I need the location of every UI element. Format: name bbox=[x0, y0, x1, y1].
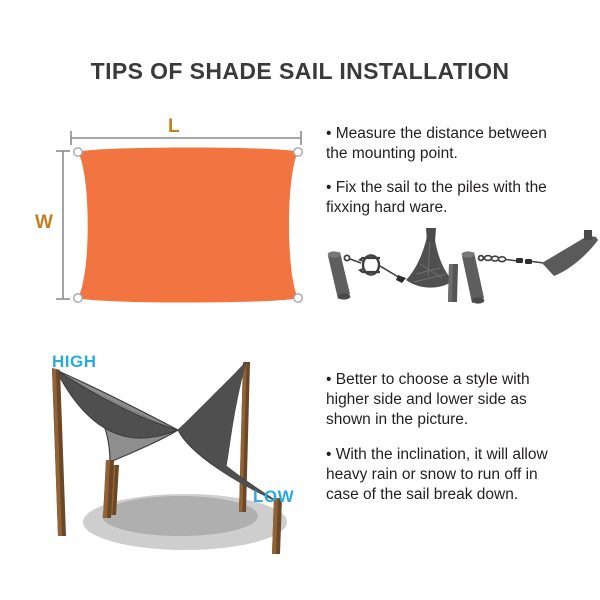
grommet-icon bbox=[294, 148, 302, 156]
tip-line: • With the inclination, it will allow bbox=[326, 445, 548, 465]
tip-line: shown in the picture. bbox=[326, 410, 530, 430]
tip-fix-sail-to-piles: • Fix the sail to the piles with the fix… bbox=[326, 178, 547, 218]
tips-upper-block: • Measure the distance between the mount… bbox=[326, 124, 600, 220]
length-dimension-line bbox=[71, 131, 301, 145]
high-label: HIGH bbox=[52, 352, 97, 372]
width-dimension-line bbox=[56, 151, 70, 299]
length-label: L bbox=[168, 116, 180, 138]
tip-line: • Measure the distance between bbox=[326, 124, 547, 144]
ground-shadow bbox=[102, 496, 258, 536]
tip-inclination-runoff: • With the inclination, it will allow he… bbox=[326, 445, 548, 505]
grommet-icon bbox=[74, 294, 82, 302]
low-label: LOW bbox=[253, 487, 294, 507]
chain-icon bbox=[484, 256, 505, 262]
tip-line: the mounting point. bbox=[326, 144, 547, 164]
infographic-page: TIPS OF SHADE SAIL INSTALLATION L W • Me… bbox=[0, 0, 600, 600]
tip-line: case of the sail break down. bbox=[326, 485, 548, 505]
page-title: TIPS OF SHADE SAIL INSTALLATION bbox=[0, 58, 600, 85]
sail-corner-panel bbox=[542, 236, 598, 276]
post-icon bbox=[462, 251, 485, 303]
tip-line: • Better to choose a style with bbox=[326, 370, 530, 390]
tip-line: heavy rain or snow to run off in bbox=[326, 465, 548, 485]
rectangular-shade-sail-diagram bbox=[18, 108, 318, 320]
tips-lower-block: • Better to choose a style with higher s… bbox=[326, 370, 600, 510]
tip-line: higher side and lower side as bbox=[326, 390, 530, 410]
turnbuckle-icon bbox=[358, 256, 380, 275]
tip-measure-distance: • Measure the distance between the mount… bbox=[326, 124, 547, 164]
orange-sail-body bbox=[78, 148, 298, 303]
hardware-item-chain bbox=[462, 230, 598, 304]
tip-line: • Fix the sail to the piles with the bbox=[326, 178, 547, 198]
tip-line: fixxing hard ware. bbox=[326, 198, 547, 218]
grommet-icon bbox=[294, 294, 302, 302]
width-label: W bbox=[35, 212, 53, 234]
grommet-icon bbox=[74, 148, 82, 156]
hardware-item-turnbuckle bbox=[328, 228, 458, 302]
sail-dark-gray-lobe-lower bbox=[178, 362, 278, 502]
post-front-left-high bbox=[52, 368, 66, 536]
tip-choose-style: • Better to choose a style with higher s… bbox=[326, 370, 530, 430]
inclined-shade-sail-diagram bbox=[30, 340, 330, 580]
post-icon bbox=[448, 264, 458, 302]
post-icon bbox=[328, 251, 351, 299]
fixing-hardware-diagram bbox=[316, 228, 600, 320]
